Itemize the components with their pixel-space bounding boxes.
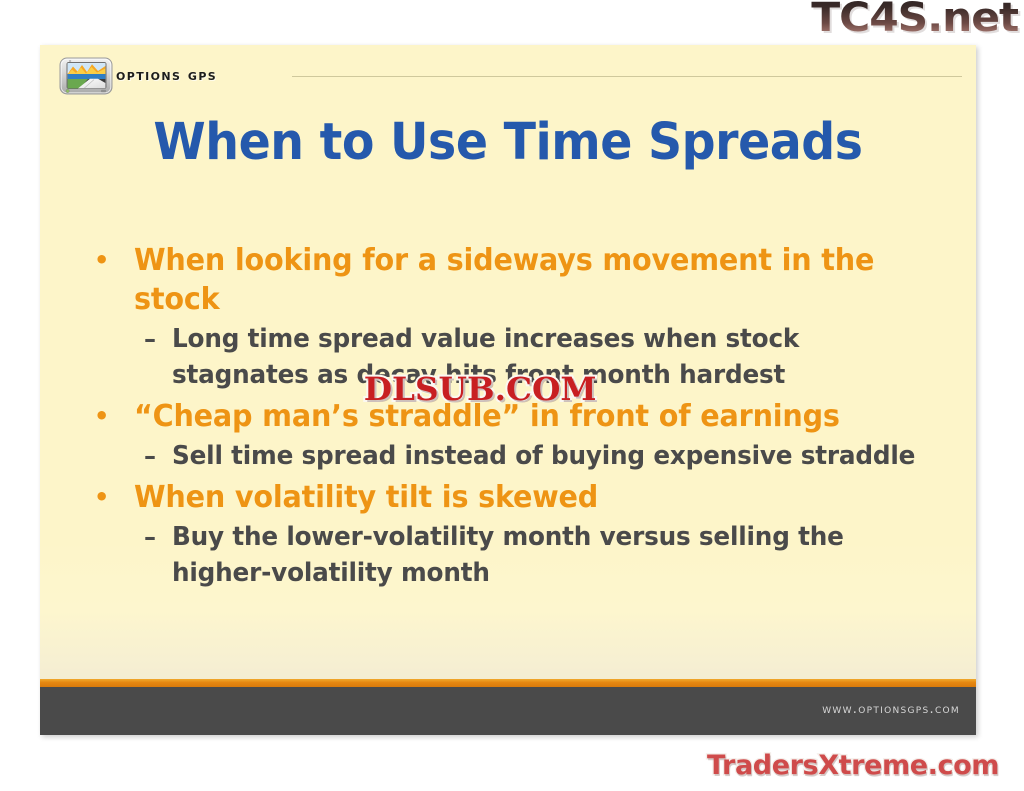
accent-stripe — [40, 679, 976, 687]
slide-body: • When looking for a sideways movement i… — [92, 241, 958, 595]
header-divider — [292, 76, 962, 77]
bullet-marker: • — [92, 241, 134, 280]
slide-title: When to Use Time Spreads — [73, 113, 943, 173]
bullet-marker: – — [144, 321, 172, 357]
bullet-text: When looking for a sideways movement in … — [134, 241, 921, 319]
bullet-text: Sell time spread instead of buying expen… — [172, 438, 919, 474]
bullet-marker: • — [92, 397, 134, 436]
bullet-marker: – — [144, 438, 172, 474]
slide-footer-bar: www.OptionsGPS.com — [40, 687, 976, 735]
footer-url: www.OptionsGPS.com — [822, 702, 960, 717]
watermark-dlsub: DLSUB.COM — [364, 370, 597, 408]
bullet-level1: • When looking for a sideways movement i… — [92, 241, 958, 319]
watermark-tc4s: TC4S.net — [811, 0, 1018, 40]
watermark-tradersxtreme: TradersXtreme.com — [707, 750, 999, 781]
gps-device-icon — [58, 56, 114, 98]
bullet-level2: – Buy the lower-volatility month versus … — [92, 519, 958, 591]
bullet-level1: • When volatility tilt is skewed — [92, 478, 958, 517]
bullet-marker: – — [144, 519, 172, 555]
bullet-text: When volatility tilt is skewed — [134, 478, 921, 517]
bullet-text: Buy the lower-volatility month versus se… — [172, 519, 919, 591]
bullet-level2: – Sell time spread instead of buying exp… — [92, 438, 958, 474]
brand-logo-text: Options GPS — [116, 66, 217, 84]
bullet-marker: • — [92, 478, 134, 517]
presentation-page: TC4S.net TC4S.net — [0, 0, 1024, 791]
slide-header: Options GPS — [40, 45, 976, 99]
